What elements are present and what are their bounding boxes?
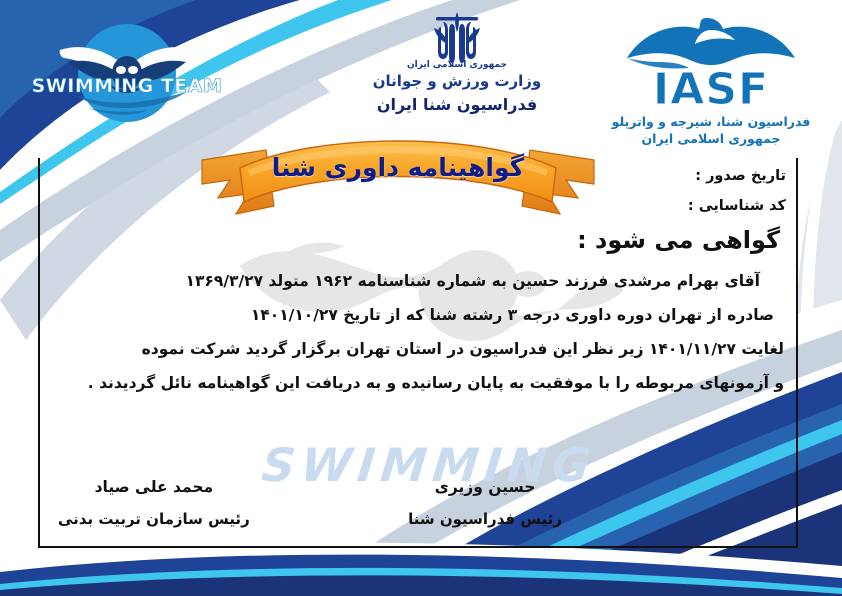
signature-title: رئیس فدراسیون شنا xyxy=(408,510,562,528)
iran-national-emblem-icon xyxy=(426,8,488,64)
iasf-logo-block: IASF فدراسیون شنا، شیرجه و واترپلو جمهور… xyxy=(602,14,820,144)
issue-date-label: تاریخ صدور : xyxy=(695,168,786,184)
signature-title: رئیس سازمان تربیت بدنی xyxy=(58,510,250,528)
signature-block: حسین وزیری رئیس فدراسیون شنا محمد علی صی… xyxy=(58,478,562,528)
signature-federation-head: حسین وزیری رئیس فدراسیون شنا xyxy=(408,478,562,528)
iasf-acronym: IASF xyxy=(602,70,820,110)
body-line-1: آقای بهرام مرشدی فرزند حسین به شماره شنا… xyxy=(54,270,784,292)
center-logo-line1: جمهوری اسلامی ایران xyxy=(352,60,562,70)
iasf-line1: فدراسیون شنا، شیرجه و واترپلو xyxy=(602,114,820,131)
certificate-title: گواهینامه داوری شنا xyxy=(196,153,600,182)
iasf-line2: جمهوری اسلامی ایران xyxy=(602,131,820,148)
ministry-emblem-block: جمهوری اسلامی ایران وزارت ورزش و جوانان … xyxy=(352,8,562,134)
certificate-page: SWIMMING SWIMMI xyxy=(0,0,842,596)
certify-heading: گواهی می شود : xyxy=(54,226,784,254)
body-line-3: لغایت ۱۴۰۱/۱۱/۲۷ زیر نظر این فدراسیون در… xyxy=(54,338,784,360)
title-ribbon: گواهینامه داوری شنا xyxy=(196,128,600,228)
id-code-row: کد شناسایی : xyxy=(688,198,786,214)
center-logo-line2: وزارت ورزش و جوانان xyxy=(352,72,562,90)
certificate-meta: تاریخ صدور : کد شناسایی : xyxy=(688,168,786,228)
id-code-label: کد شناسایی : xyxy=(688,198,786,214)
body-line-4: و آزمونهای مربوطه را با موفقیت به پایان … xyxy=(54,372,784,394)
signature-physical-education-head: محمد علی صیاد رئیس سازمان تربیت بدنی xyxy=(58,478,250,528)
body-line-2: صادره از تهران دوره داوری درجه ۳ رشته شن… xyxy=(54,304,784,326)
signature-name: محمد علی صیاد xyxy=(58,478,250,496)
swimming-team-logo: SWIMMING TEAM xyxy=(22,18,232,128)
center-logo-line3: فدراسیون شنا ایران xyxy=(352,95,562,114)
issue-date-row: تاریخ صدور : xyxy=(688,168,786,184)
signature-name: حسین وزیری xyxy=(408,478,562,496)
svg-text:SWIMMING TEAM: SWIMMING TEAM xyxy=(32,75,223,97)
certificate-body: گواهی می شود : آقای بهرام مرشدی فرزند حس… xyxy=(54,226,784,406)
